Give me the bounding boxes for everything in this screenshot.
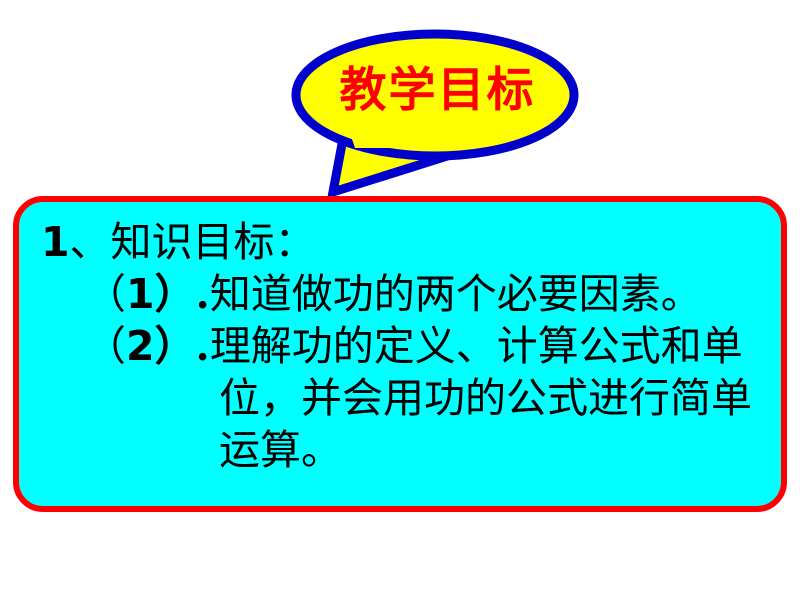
marker-close-paren: ）. [155, 270, 210, 318]
objectives-list: 1、知识目标： （1）.知道做功的两个必要因素。 （2）.理解功的定义、计算公式… [19, 202, 781, 506]
heading-number: 1 [41, 218, 70, 266]
slide-canvas: 教学目标 1、知识目标： （1）.知道做功的两个必要因素。 （2）.理解功的定义… [0, 0, 800, 600]
objective-item-2: （2）.理解功的定义、计算公式和单 [85, 320, 775, 372]
marker-open-paren: （ [85, 322, 126, 370]
objectives-heading: 1、知识目标： [41, 216, 775, 268]
content-panel: 1、知识目标： （1）.知道做功的两个必要因素。 （2）.理解功的定义、计算公式… [13, 196, 787, 512]
objective-item-1: （1）.知道做功的两个必要因素。 [85, 268, 775, 320]
teaching-objectives-callout: 教学目标 [285, 24, 590, 199]
marker-open-paren: （ [85, 270, 126, 318]
marker-number: 1 [126, 270, 155, 318]
callout-tail-join [347, 124, 417, 148]
callout-title: 教学目标 [285, 55, 590, 125]
marker-close-paren: ）. [155, 322, 210, 370]
objective-item-2-continuation-2: 运算。 [219, 424, 775, 476]
objective-item-2-continuation-1: 位，并会用功的公式进行简单 [219, 372, 775, 424]
heading-text: 、知识目标： [70, 218, 316, 266]
item-text: 理解功的定义、计算公式和单 [210, 322, 743, 370]
marker-number: 2 [126, 322, 155, 370]
item-text: 知道做功的两个必要因素。 [210, 270, 702, 318]
